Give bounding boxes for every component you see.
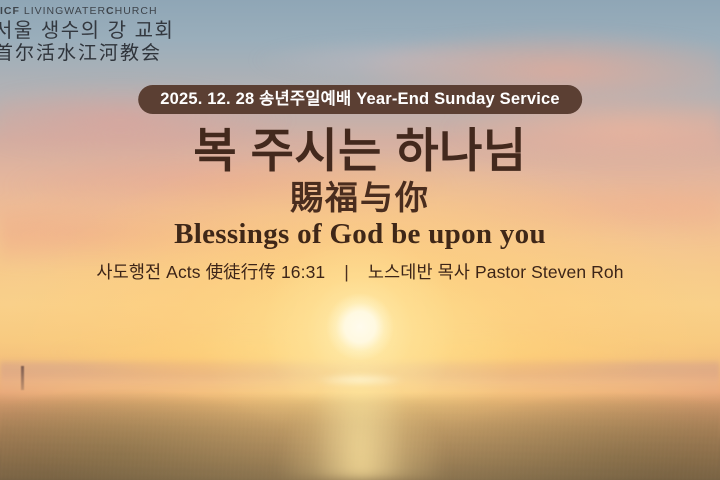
scripture-reference: 사도행전 Acts 使徒行传 16:31	[96, 262, 325, 282]
speaker-name: 노스데반 목사 Pastor Steven Roh	[368, 262, 624, 282]
service-date-badge: 2025. 12. 28 송년주일예배 Year-End Sunday Serv…	[138, 85, 582, 114]
church-logo: ICF LIVINGWATERCHURCH 서울 생수의 강 교회 首尔活水江河…	[0, 6, 224, 63]
poster-content: ICF LIVINGWATERCHURCH 서울 생수의 강 교회 首尔活水江河…	[0, 0, 720, 480]
scripture-speaker-row: 사도행전 Acts 使徒行传 16:31 | 노스데반 목사 Pastor St…	[0, 259, 720, 284]
headline-english: Blessings of God be upon you	[0, 219, 720, 251]
logo-korean-name: 서울 생수의 강 교회	[0, 21, 224, 41]
sunday-service-poster: ICF LIVINGWATERCHURCH 서울 생수의 강 교회 首尔活水江河…	[0, 0, 720, 480]
meta-separator: |	[330, 262, 363, 283]
headline-chinese: 賜福与你	[0, 180, 720, 216]
headline-korean: 복 주시는 하나님	[0, 126, 720, 175]
logo-chinese-name: 首尔活水江河教会	[0, 44, 224, 63]
logo-english-name: ICF LIVINGWATERCHURCH	[0, 6, 224, 17]
